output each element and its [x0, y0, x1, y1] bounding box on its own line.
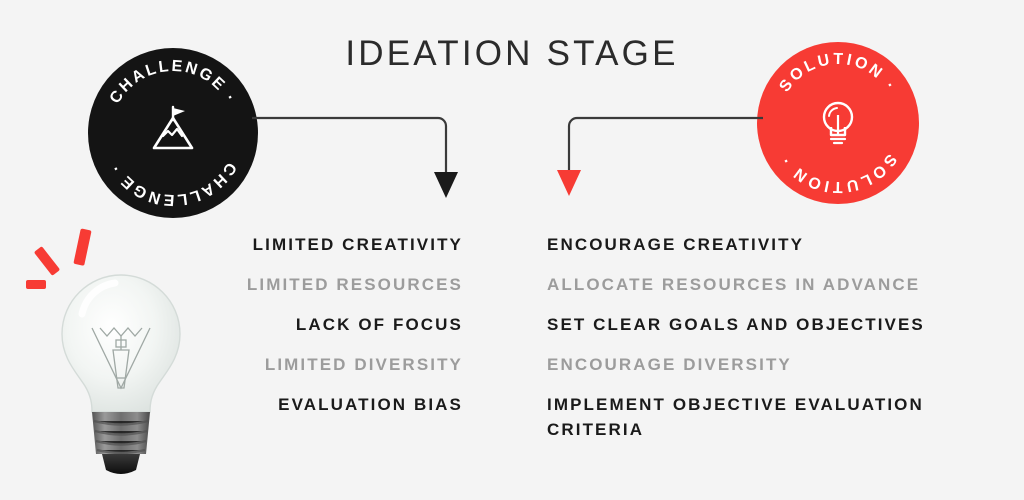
- list-item: IMPLEMENT OBJECTIVE EVALUATION CRITERIA: [547, 392, 967, 442]
- solution-badge[interactable]: SOLUTION · SOLUTION ·: [757, 42, 919, 204]
- svg-text:CHALLENGE ·: CHALLENGE ·: [107, 58, 240, 107]
- svg-text:SOLUTION ·: SOLUTION ·: [776, 151, 899, 195]
- mountain-flag-icon: [144, 104, 202, 162]
- list-item: ENCOURAGE CREATIVITY: [547, 232, 967, 257]
- list-item: LIMITED DIVERSITY: [163, 352, 463, 377]
- challenge-arrow-connector: [252, 112, 467, 204]
- solution-list: ENCOURAGE CREATIVITY ALLOCATE RESOURCES …: [547, 232, 967, 457]
- list-item: EVALUATION BIAS: [163, 392, 463, 417]
- svg-text:SOLUTION ·: SOLUTION ·: [776, 51, 899, 95]
- list-item: SET CLEAR GOALS AND OBJECTIVES: [547, 312, 967, 337]
- list-item: LIMITED RESOURCES: [163, 272, 463, 297]
- list-item: LACK OF FOCUS: [163, 312, 463, 337]
- list-item: LIMITED CREATIVITY: [163, 232, 463, 257]
- list-item: ALLOCATE RESOURCES IN ADVANCE: [547, 272, 967, 297]
- infographic-canvas: IDEATION STAGE CHALLENGE · CHALLENGE ·: [0, 0, 1024, 500]
- red-shine-dashes: [26, 228, 92, 289]
- challenge-badge[interactable]: CHALLENGE · CHALLENGE ·: [88, 48, 258, 218]
- solution-arrow-connector: [548, 112, 763, 204]
- list-item: ENCOURAGE DIVERSITY: [547, 352, 967, 377]
- bulb-base: [92, 412, 150, 474]
- challenge-list: LIMITED CREATIVITY LIMITED RESOURCES LAC…: [163, 232, 463, 432]
- lightbulb-icon: [811, 96, 865, 150]
- svg-text:CHALLENGE ·: CHALLENGE ·: [107, 159, 240, 208]
